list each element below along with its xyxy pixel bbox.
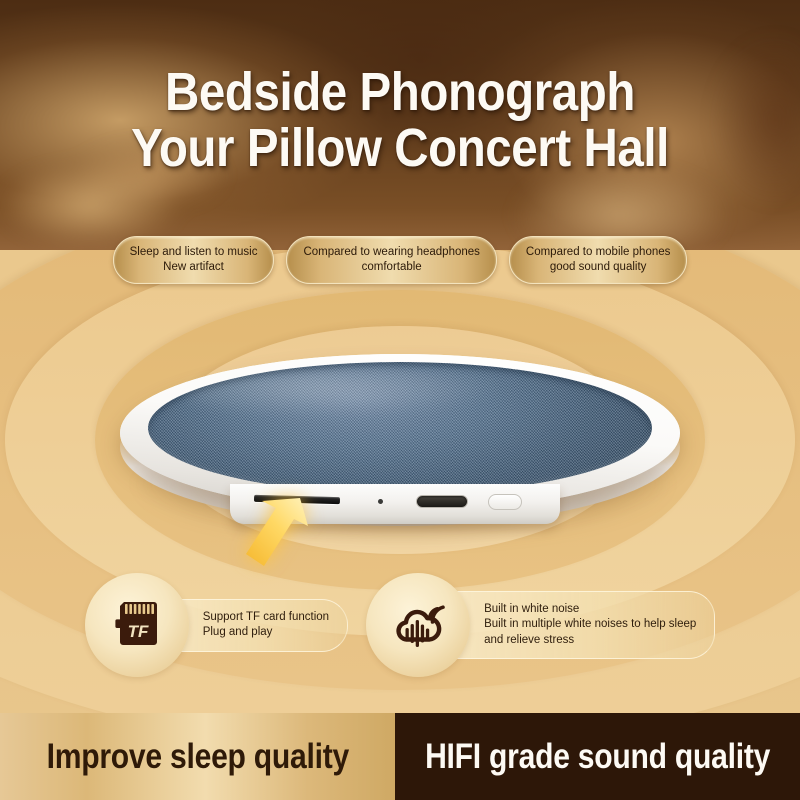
tf-badge-line-2: Plug and play: [203, 625, 329, 641]
banner-left-text: Improve sleep quality: [46, 737, 348, 777]
banner-left-panel: Improve sleep quality: [0, 713, 395, 800]
speaker-highlight: [180, 366, 510, 418]
microphone-hole-icon: [378, 499, 383, 504]
power-button: [488, 494, 522, 510]
feature-pill-1: Sleep and listen to music New artifact: [113, 236, 275, 284]
feature-badge-white-noise: Built in white noise Built in multiple w…: [366, 573, 715, 677]
feature-badge-tf-card-text: Support TF card function Plug and play: [161, 599, 348, 652]
white-noise-cloud-icon: [390, 599, 446, 651]
feature-badge-white-noise-text: Built in white noise Built in multiple w…: [442, 591, 715, 660]
feature-badge-tf-card: TF Support TF card function Plug and pla…: [85, 573, 348, 677]
banner-right-text: HIFI grade sound quality: [425, 737, 770, 777]
feature-badge-row: TF Support TF card function Plug and pla…: [0, 573, 800, 677]
feature-pill-3: Compared to mobile phones good sound qua…: [509, 236, 687, 284]
feature-pill-3-line-1: Compared to mobile phones: [526, 245, 670, 260]
feature-pill-1-line-2: New artifact: [163, 260, 224, 275]
headline-line-1: Bedside Phonograph: [48, 64, 752, 120]
callout-arrow-icon: [238, 492, 328, 582]
banner-right-panel: HIFI grade sound quality: [395, 713, 800, 800]
headline: Bedside Phonograph Your Pillow Concert H…: [0, 64, 800, 176]
feature-pill-2-line-1: Compared to wearing headphones: [303, 245, 479, 260]
noise-badge-line-2: Built in multiple white noises to help s…: [484, 617, 696, 633]
headline-line-2: Your Pillow Concert Hall: [48, 120, 752, 176]
tf-card-icon-circle: TF: [85, 573, 189, 677]
bottom-banner: Improve sleep quality HIFI grade sound q…: [0, 713, 800, 800]
feature-pill-2-line-2: comfortable: [362, 260, 422, 275]
product-advertisement-poster: Bedside Phonograph Your Pillow Concert H…: [0, 0, 800, 800]
usb-c-port: [416, 495, 468, 508]
tf-badge-line-1: Support TF card function: [203, 610, 329, 626]
feature-pill-row: Sleep and listen to music New artifact C…: [0, 236, 800, 284]
tf-card-label: TF: [127, 622, 148, 641]
feature-pill-3-line-2: good sound quality: [550, 260, 647, 275]
noise-badge-line-1: Built in white noise: [484, 602, 696, 618]
noise-badge-line-3: and relieve stress: [484, 633, 696, 649]
tf-card-icon: TF: [110, 598, 164, 652]
feature-pill-2: Compared to wearing headphones comfortab…: [286, 236, 496, 284]
white-noise-icon-circle: [366, 573, 470, 677]
feature-pill-1-line-1: Sleep and listen to music: [130, 245, 258, 260]
product-image: [110, 332, 690, 562]
